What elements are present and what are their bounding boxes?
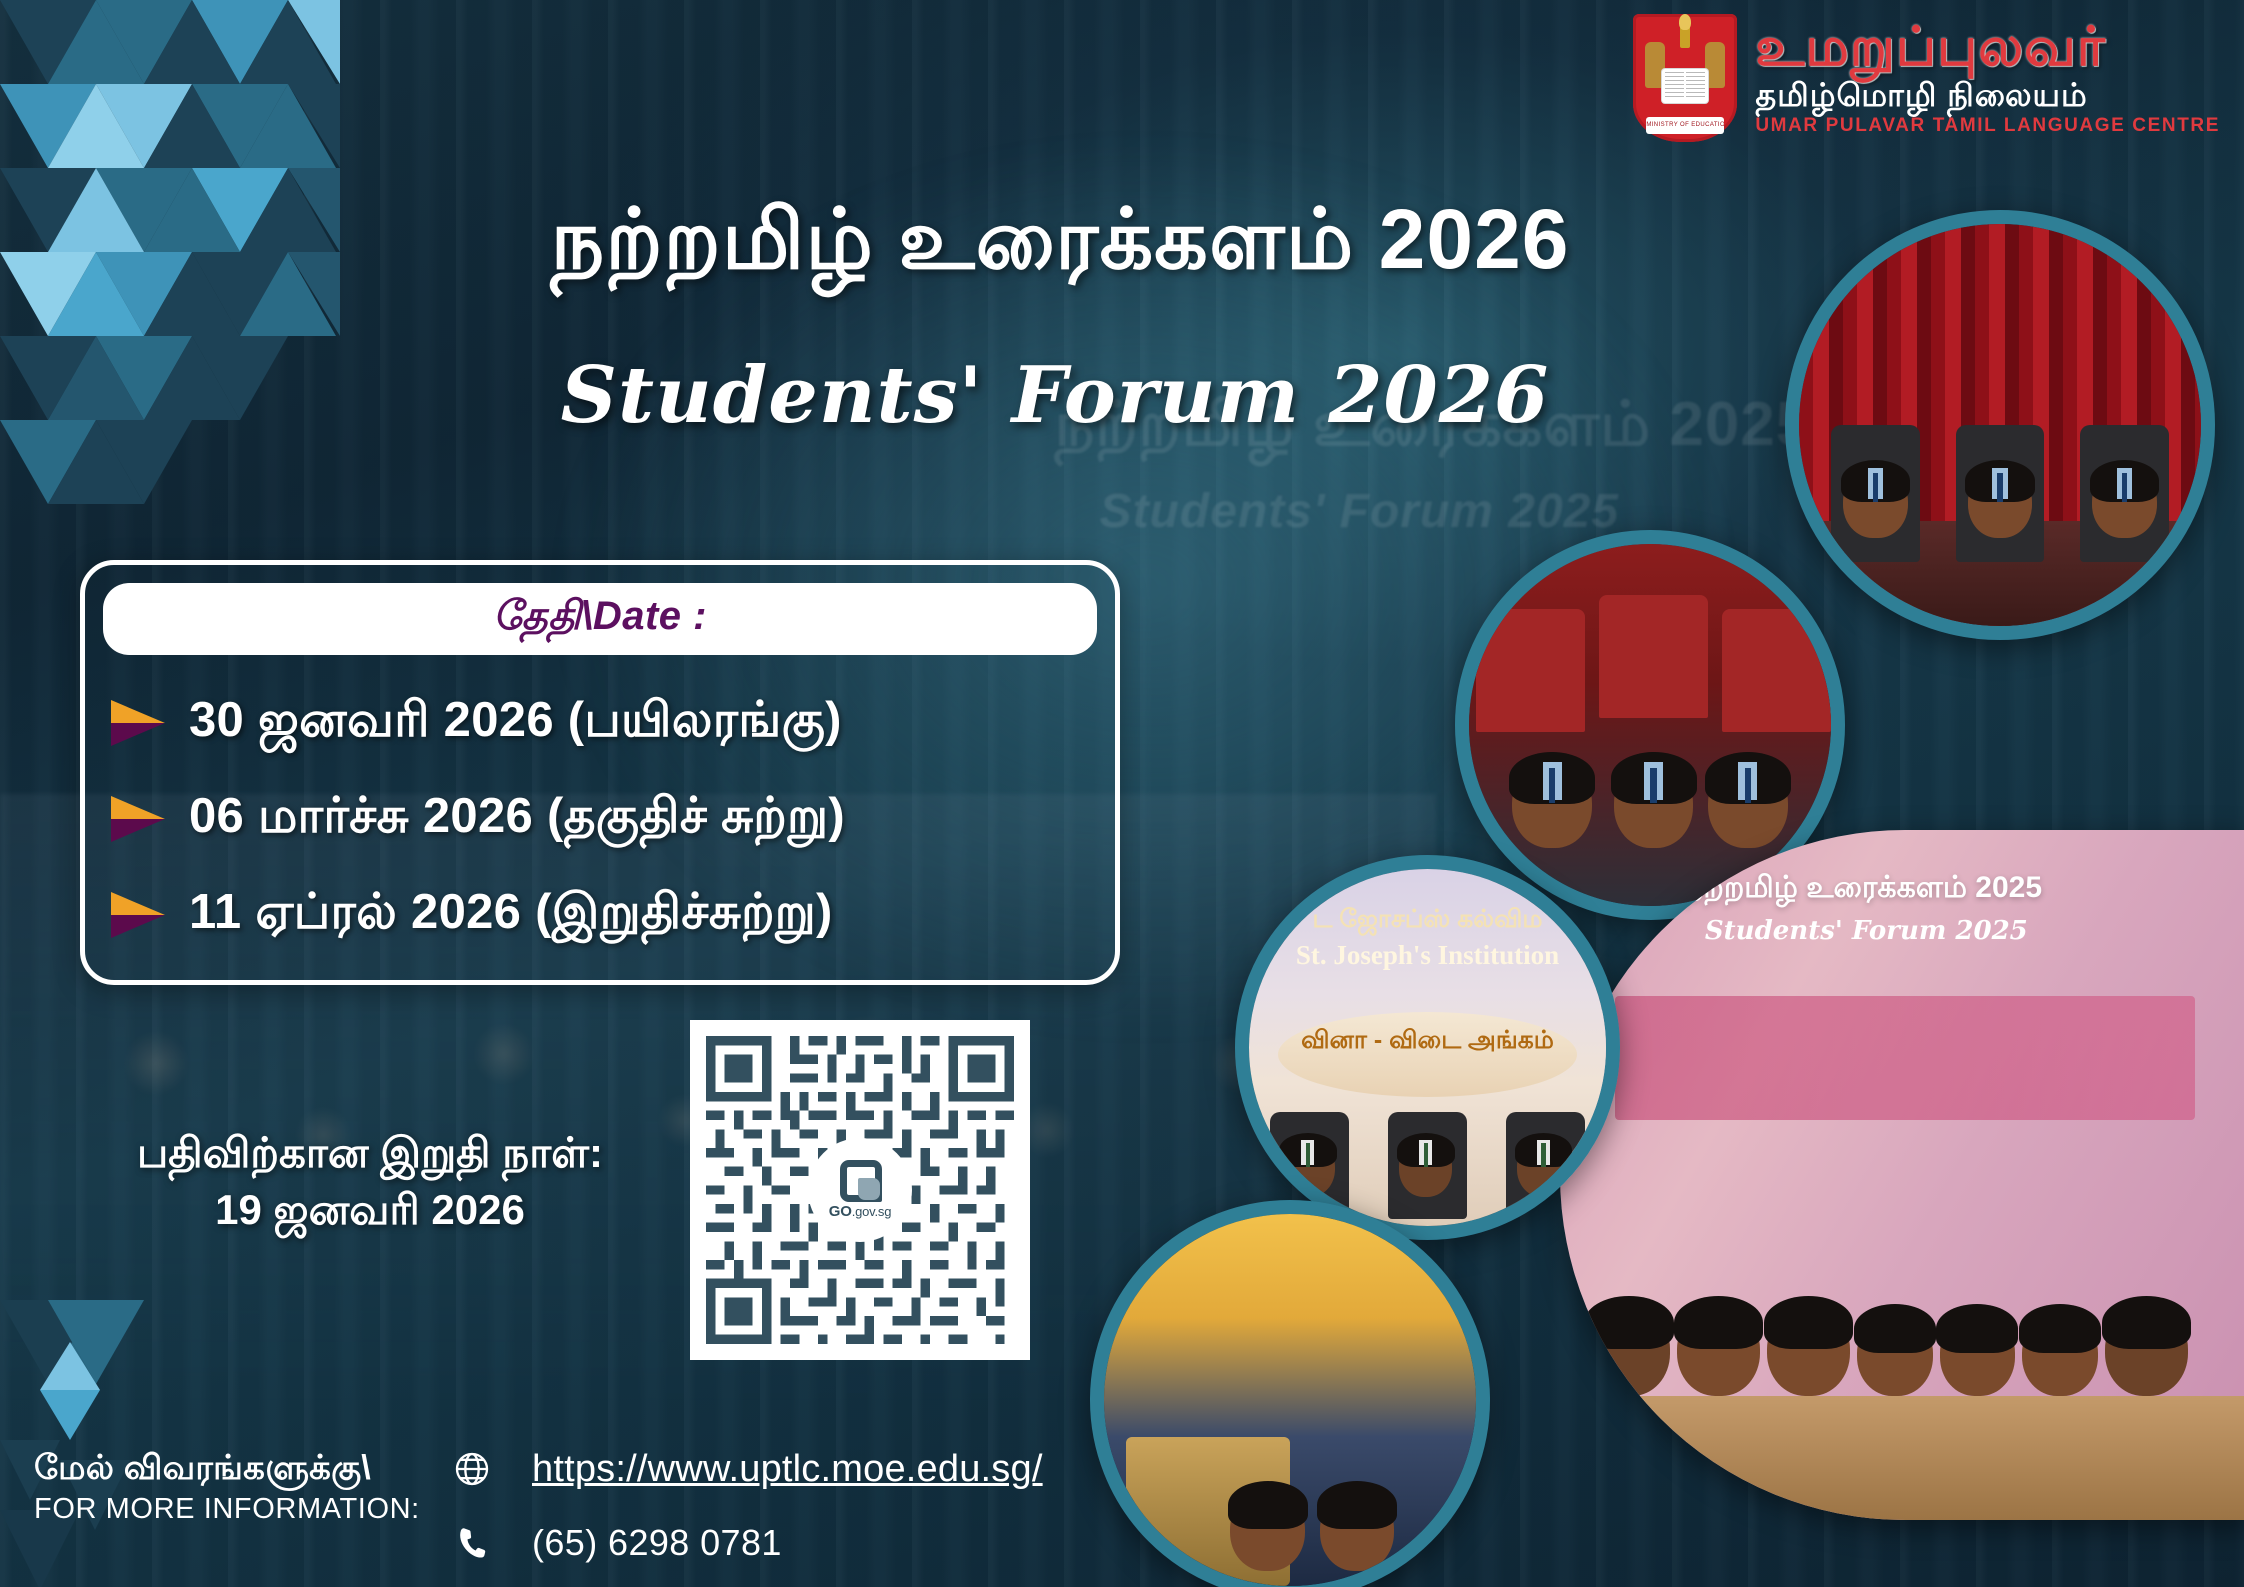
tie bbox=[1424, 1143, 1428, 1167]
date-item-label: 11 ஏப்ரல் 2026 (இறுதிச்சுற்று) bbox=[189, 884, 833, 947]
logo-tamil-name: உமறுப்புலவர் bbox=[1755, 20, 2220, 76]
date-item: 11 ஏப்ரல் 2026 (இறுதிச்சுற்று) bbox=[111, 867, 1095, 963]
arrow-bottom-half bbox=[111, 819, 165, 842]
qr-brand-bold: GO bbox=[829, 1203, 852, 1220]
date-item: 30 ஜனவரி 2026 (பயிலரங்கு) bbox=[111, 675, 1095, 771]
arrow-bullet-icon bbox=[111, 796, 165, 842]
open-book-icon bbox=[1662, 69, 1708, 103]
adult-figure bbox=[1677, 1303, 1760, 1396]
seat bbox=[1599, 595, 1708, 718]
more-info-label-english: FOR MORE INFORMATION: bbox=[34, 1491, 420, 1528]
date-panel: தேதி\Date : 30 ஜனவரி 2026 (பயிலரங்கு) 06… bbox=[80, 560, 1120, 985]
head bbox=[1857, 1311, 1933, 1396]
qr-canvas: GO.gov.sg bbox=[706, 1036, 1014, 1344]
tie bbox=[1997, 473, 2002, 502]
photo-sji-panel: ட ஜோசப்ஸ் கல்விம St. Joseph's Institutio… bbox=[1235, 855, 1620, 1240]
qr-center-logo: GO.gov.sg bbox=[808, 1138, 912, 1242]
mosaic-svg bbox=[0, 0, 340, 560]
date-item: 06 மார்ச்சு 2026 (தகுதிச் சுற்று) bbox=[111, 771, 1095, 867]
qr-brand-light: .gov.sg bbox=[852, 1204, 892, 1219]
poster-canvas: நற்றமிழ் உரைக்களம் 2025 Students' Forum … bbox=[0, 0, 2244, 1587]
qr-brand-label: GO.gov.sg bbox=[829, 1203, 892, 1220]
head bbox=[1230, 1488, 1304, 1571]
adult-figure bbox=[1767, 1303, 1850, 1396]
gogovsg-mark-icon bbox=[840, 1160, 880, 1200]
head bbox=[1677, 1303, 1760, 1396]
globe-icon bbox=[450, 1447, 494, 1491]
registration-deadline: பதிவிற்கான இறுதி நாள்: 19 ஜனவரி 2026 bbox=[70, 1125, 670, 1238]
contact-details: https://www.uptlc.moe.edu.sg/ (65) 6298 … bbox=[450, 1432, 1043, 1580]
student-figure bbox=[1940, 1311, 2016, 1396]
deadline-date: 19 ஜனவரி 2026 bbox=[70, 1182, 670, 1239]
date-heading-label: தேதி\Date : bbox=[493, 594, 707, 644]
student-figure bbox=[1968, 466, 2032, 538]
sji-backdrop-tamil-top: ட ஜோசப்ஸ் கல்விம bbox=[1312, 905, 1542, 937]
mosaic-bottom-svg bbox=[0, 1300, 250, 1587]
date-item-label: 06 மார்ச்சு 2026 (தகுதிச் சுற்று) bbox=[189, 788, 845, 851]
arrow-top-half bbox=[111, 796, 165, 819]
hair bbox=[2019, 1304, 2101, 1353]
contact-website-row[interactable]: https://www.uptlc.moe.edu.sg/ bbox=[450, 1432, 1043, 1506]
hair bbox=[1228, 1481, 1308, 1529]
student-figure bbox=[1399, 1137, 1453, 1197]
hair bbox=[1317, 1481, 1397, 1529]
crest-ribbon: MINISTRY OF EDUCATION bbox=[1646, 117, 1724, 134]
adult-figure bbox=[2105, 1303, 2188, 1396]
deadline-label: பதிவிற்கான இறுதி நாள்: bbox=[70, 1125, 670, 1182]
phone-icon bbox=[450, 1521, 494, 1565]
more-info-label-tamil: மேல் விவரங்களுக்கு\ bbox=[34, 1447, 420, 1491]
arrow-bottom-half bbox=[111, 915, 165, 938]
website-url[interactable]: https://www.uptlc.moe.edu.sg/ bbox=[532, 1448, 1043, 1491]
student-figure bbox=[1857, 1311, 1933, 1396]
more-info-label: மேல் விவரங்களுக்கு\ FOR MORE INFORMATION… bbox=[34, 1447, 420, 1528]
speaker-figure bbox=[1320, 1488, 1394, 1571]
torch-icon bbox=[1680, 26, 1690, 48]
hair bbox=[1674, 1296, 1763, 1350]
tie bbox=[1549, 768, 1555, 804]
hair bbox=[1584, 1296, 1673, 1350]
tie bbox=[1650, 768, 1656, 804]
logo-english-name: UMAR PULAVAR TAMIL LANGUAGE CENTRE bbox=[1755, 116, 2220, 136]
hair bbox=[1936, 1304, 2018, 1353]
head bbox=[2022, 1311, 2098, 1396]
head bbox=[2105, 1303, 2188, 1396]
hair bbox=[2102, 1296, 2191, 1350]
photo-award-ceremony: நற்றமிழ் உரைக்களம் 2025 Students' Forum … bbox=[1560, 830, 2244, 1520]
student-figure bbox=[2022, 1311, 2098, 1396]
award-banner bbox=[1615, 996, 2195, 1120]
tie bbox=[2122, 473, 2127, 502]
photo-panel-scene bbox=[1799, 224, 2201, 626]
tie bbox=[1873, 473, 1878, 502]
lion-right-icon bbox=[1705, 42, 1725, 88]
award-backdrop-tamil: நற்றமிழ் உரைக்களம் 2025 bbox=[1684, 871, 2042, 909]
seat bbox=[1722, 609, 1831, 732]
sji-backdrop-english: St. Joseph's Institution bbox=[1296, 940, 1559, 971]
photo-podium-speakers bbox=[1090, 1200, 1490, 1587]
hair bbox=[1764, 1296, 1853, 1350]
hair bbox=[1854, 1304, 1936, 1353]
award-stage-floor bbox=[1560, 1396, 2244, 1520]
moe-crest-icon: MINISTRY OF EDUCATION bbox=[1633, 14, 1737, 142]
date-item-label: 30 ஜனவரி 2026 (பயிலரங்கு) bbox=[189, 692, 842, 755]
arrow-top-half bbox=[111, 892, 165, 915]
poster-title-tamil: நற்றமிழ் உரைக்களம் 2026 bbox=[400, 195, 1720, 283]
student-figure bbox=[1281, 1137, 1335, 1197]
date-heading-bar: தேதி\Date : bbox=[103, 583, 1097, 655]
photo-sji-scene: ட ஜோசப்ஸ் கல்விம St. Joseph's Institutio… bbox=[1249, 869, 1606, 1226]
tie bbox=[1306, 1143, 1310, 1167]
head bbox=[1588, 1303, 1671, 1396]
arrow-top-half bbox=[111, 700, 165, 723]
photo-speaker-scene bbox=[1104, 1214, 1476, 1586]
photo-award-scene: நற்றமிழ் உரைக்களம் 2025 Students' Forum … bbox=[1560, 830, 2244, 1520]
head bbox=[1767, 1303, 1850, 1396]
student-figure bbox=[1843, 466, 1907, 538]
photo-student-panel bbox=[1785, 210, 2215, 640]
triangle-mosaic-bottom-left bbox=[0, 1300, 250, 1587]
award-backdrop-english: Students' Forum 2025 bbox=[1705, 916, 2028, 946]
speaker-figure bbox=[1230, 1488, 1304, 1571]
sji-backdrop-tamil-bottom: வினா - விடை அங்கம் bbox=[1301, 1026, 1554, 1058]
tie bbox=[1541, 1143, 1545, 1167]
head bbox=[1320, 1488, 1394, 1571]
registration-qr-code[interactable]: GO.gov.sg bbox=[690, 1020, 1030, 1360]
date-list: 30 ஜனவரி 2026 (பயிலரங்கு) 06 மார்ச்சு 20… bbox=[111, 675, 1095, 963]
arrow-bullet-icon bbox=[111, 892, 165, 938]
phone-number[interactable]: (65) 6298 0781 bbox=[532, 1522, 782, 1564]
triangle-mosaic-top-left bbox=[0, 0, 340, 560]
arrow-bullet-icon bbox=[111, 700, 165, 746]
arrow-bottom-half bbox=[111, 723, 165, 746]
seat bbox=[1476, 609, 1585, 732]
student-figure bbox=[2092, 466, 2156, 538]
logo-tamil-subtitle: தமிழ்மொழி நிலையம் bbox=[1755, 79, 2220, 112]
adult-figure bbox=[1588, 1303, 1671, 1396]
head bbox=[1940, 1311, 2016, 1396]
logo-wordmark: உமறுப்புலவர் தமிழ்மொழி நிலையம் UMAR PULA… bbox=[1755, 20, 2220, 135]
uptlc-logo: MINISTRY OF EDUCATION உமறுப்புலவர் தமிழ்… bbox=[1633, 14, 2220, 142]
tie bbox=[1745, 768, 1751, 804]
contact-phone-row[interactable]: (65) 6298 0781 bbox=[450, 1506, 1043, 1580]
student-figure bbox=[1517, 1137, 1571, 1197]
poster-title-english: Students' Forum 2026 bbox=[430, 350, 1680, 441]
